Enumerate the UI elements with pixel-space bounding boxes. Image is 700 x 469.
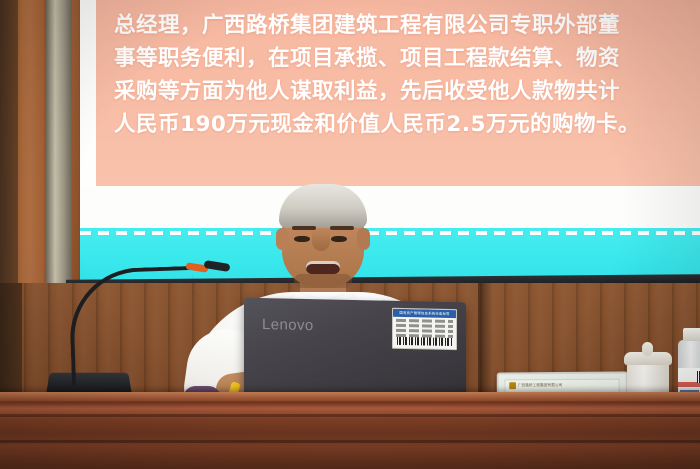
asset-sticker-barcode	[397, 337, 452, 346]
water-bottle-cap	[683, 328, 700, 341]
org-emblem-icon	[509, 382, 516, 389]
person-mouth	[306, 261, 340, 274]
teacup-lid-knob	[642, 342, 653, 356]
asset-sticker: 国有资产管理信息系统设备标签	[392, 308, 457, 350]
desk-groove-2	[0, 440, 700, 443]
photo-scene: 总经理，广西路桥集团建筑工程有限公司专职外部董 事等职务便利，在项目承揽、项目工…	[0, 0, 700, 469]
foreground-desk	[0, 392, 700, 469]
asset-sticker-line-1	[396, 319, 453, 323]
person-eye-right	[331, 236, 347, 242]
person-brow-right	[330, 226, 354, 230]
person-ear-right	[357, 228, 370, 250]
nameplate-org-logo: 广西路桥工程集团有限公司	[509, 382, 562, 389]
person-eye-left	[294, 236, 310, 242]
lenovo-logo: Lenovo	[262, 316, 314, 334]
desk-groove-1	[0, 414, 700, 417]
asset-sticker-line-2	[396, 324, 453, 328]
asset-sticker-line-3	[396, 329, 453, 333]
desk-top-lip	[0, 392, 700, 401]
person-hair	[279, 184, 367, 228]
person-ear-left	[276, 228, 289, 250]
nameplate-org-text: 广西路桥工程集团有限公司	[518, 383, 563, 388]
asset-sticker-header: 国有资产管理信息系统设备标签	[393, 309, 456, 318]
person-nose	[312, 229, 330, 251]
person-chin-shadow	[294, 274, 352, 288]
